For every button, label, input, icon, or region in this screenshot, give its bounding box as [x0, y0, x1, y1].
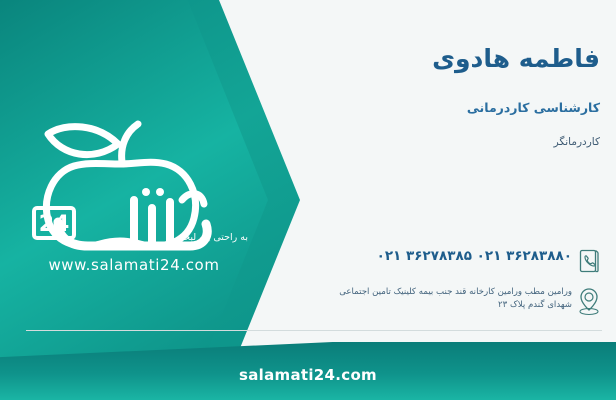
contact-block: ۳۶۲۸۳۸۸۰ ۰۲۱ ۳۶۲۷۸۳۸۵ ۰۲۱ ورامین مطب ورا… — [290, 246, 606, 326]
person-name: فاطمه هادوی — [432, 44, 600, 73]
logo-tagline: به راحتی یک لبخند — [176, 232, 248, 243]
contact-row-phone: ۳۶۲۸۳۸۸۰ ۰۲۱ ۳۶۲۷۸۳۸۵ ۰۲۱ — [290, 246, 606, 274]
person-degree: کارشناسی کاردرمانی — [467, 100, 600, 115]
section-divider — [26, 330, 602, 331]
address-line-1: ورامین مطب ورامین کارخانه قند جنب بیمه ک… — [294, 286, 572, 299]
address-line-2: شهدای گندم پلاک ۲۳ — [294, 299, 572, 312]
logo-url[interactable]: www.salamati24.com — [24, 256, 244, 274]
card-details: فاطمه هادوی کارشناسی کاردرمانی کاردرمانگ… — [286, 0, 616, 400]
phonebook-icon — [572, 246, 606, 274]
footer-bar: salamati24.com — [0, 342, 616, 400]
footer-website[interactable]: salamati24.com — [0, 342, 616, 400]
contact-row-address: ورامین مطب ورامین کارخانه قند جنب بیمه ک… — [290, 284, 606, 316]
logo-24-text: 24 — [39, 212, 70, 237]
address-text: ورامین مطب ورامین کارخانه قند جنب بیمه ک… — [290, 284, 572, 313]
location-pin-icon — [572, 284, 606, 316]
phone-numbers-text: ۳۶۲۸۳۸۸۰ ۰۲۱ ۳۶۲۷۸۳۸۵ ۰۲۱ — [290, 246, 572, 264]
person-role: کاردرمانگر — [554, 136, 600, 148]
brand-logo: 24 به راحتی یک لبخند www.salamati24.com — [14, 104, 254, 284]
business-card: 24 به راحتی یک لبخند www.salamati24.com … — [0, 0, 616, 400]
phone-line: ۳۶۲۸۳۸۸۰ ۰۲۱ ۳۶۲۷۸۳۸۵ ۰۲۱ — [294, 248, 572, 264]
